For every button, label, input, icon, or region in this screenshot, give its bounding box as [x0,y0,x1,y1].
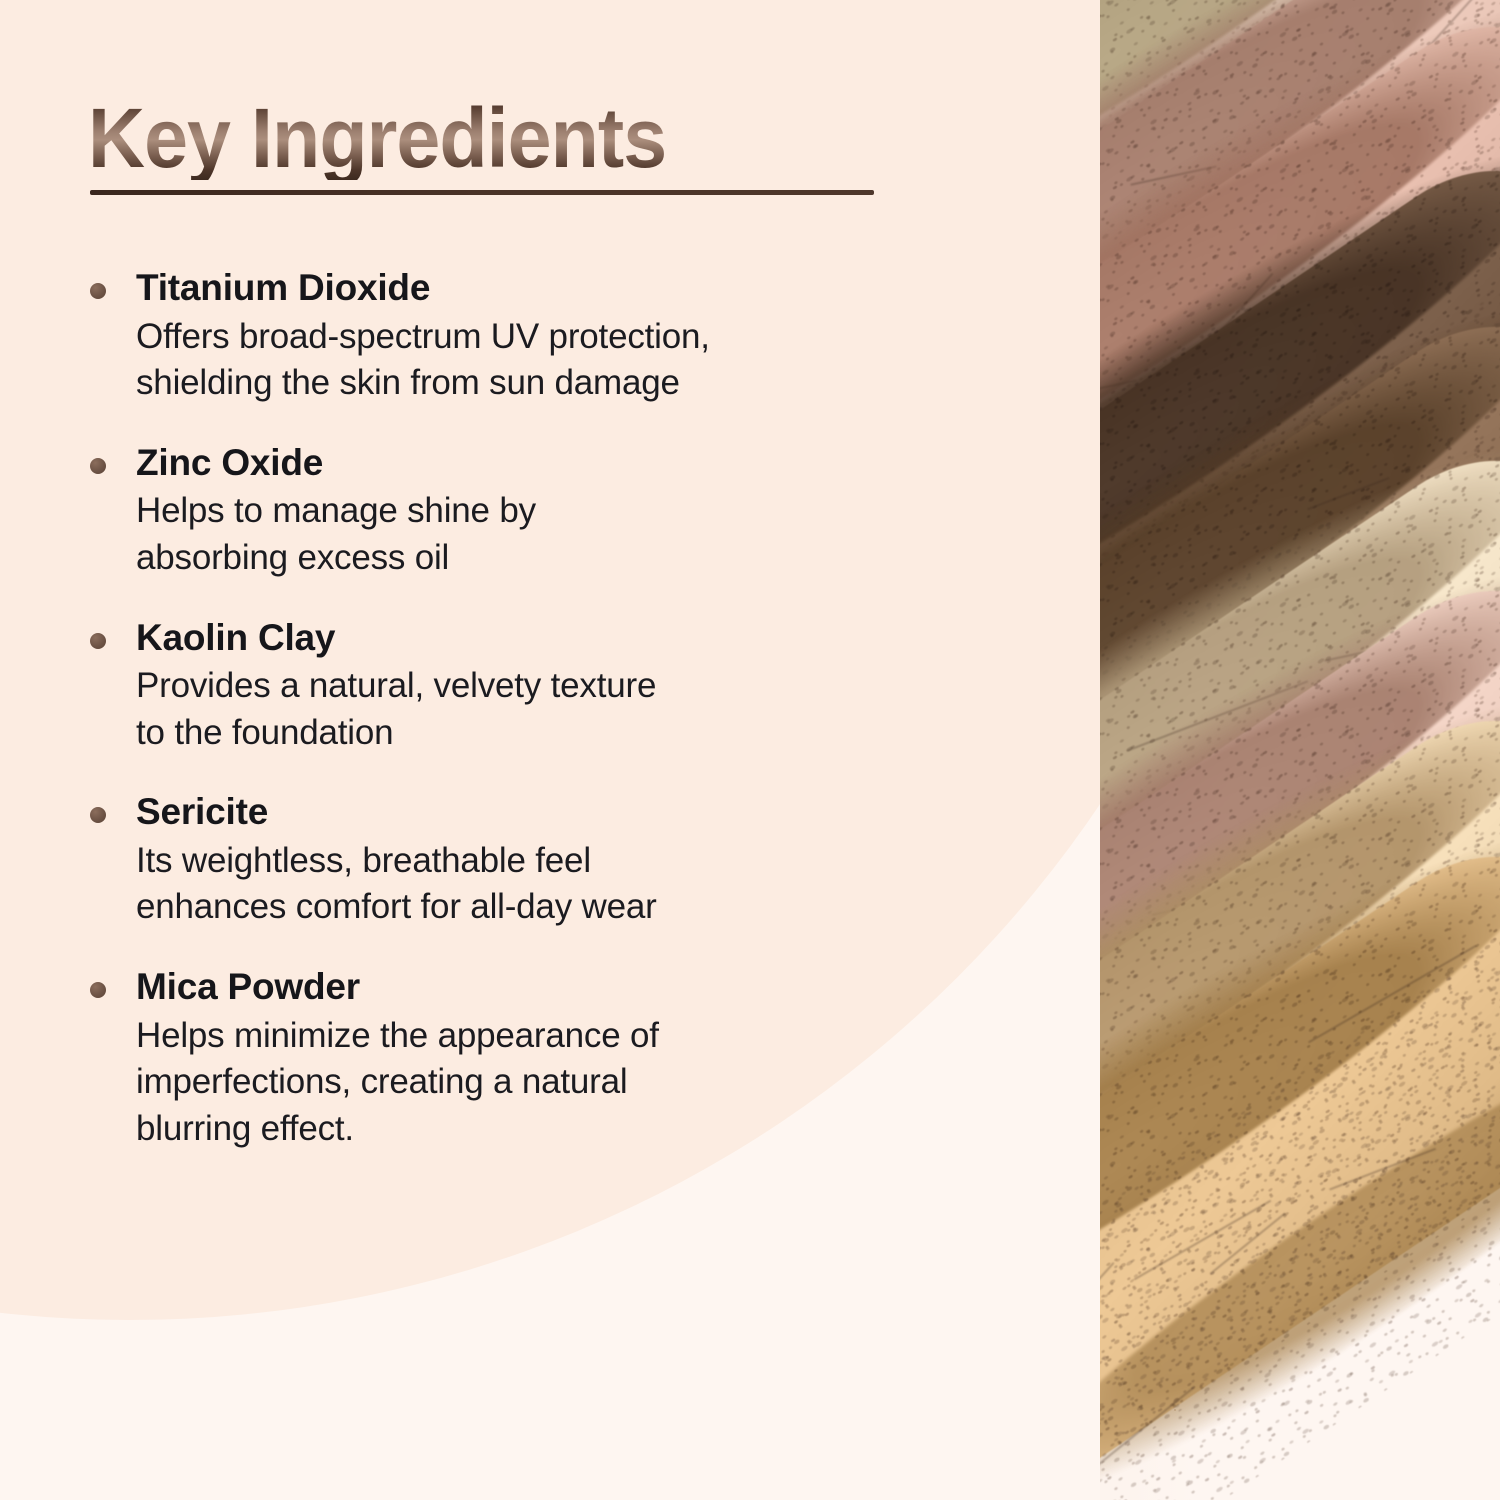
ingredient-description: Helps minimize the appearance of imperfe… [136,1013,988,1153]
ingredient-description: Its weightless, breathable feel enhances… [136,838,988,931]
ingredient-name: Sericite [136,790,988,834]
ingredient-list: Titanium Dioxide Offers broad-spectrum U… [88,266,988,1152]
ingredient-description: Provides a natural, velvety texture to t… [136,663,988,756]
bullet-dot-icon [90,283,106,299]
list-item: Zinc Oxide Helps to manage shine by abso… [88,441,988,582]
content-column: Key Ingredients Titanium Dioxide Offers … [0,0,1060,1500]
list-item: Kaolin Clay Provides a natural, velvety … [88,616,988,757]
infographic-page: Key Ingredients Titanium Dioxide Offers … [0,0,1500,1500]
ingredient-name: Kaolin Clay [136,616,988,660]
ingredient-name: Mica Powder [136,965,988,1009]
bullet-dot-icon [90,458,106,474]
title-underline-rule [90,190,874,195]
bullet-dot-icon [90,807,106,823]
ingredient-name: Titanium Dioxide [136,266,988,310]
page-title: Key Ingredients [88,96,840,180]
list-item: Sericite Its weightless, breathable feel… [88,790,988,931]
list-item: Titanium Dioxide Offers broad-spectrum U… [88,266,988,407]
powder-swatch-image [1100,0,1500,1500]
bullet-dot-icon [90,982,106,998]
page-title-wrap: Key Ingredients [88,96,888,180]
ingredient-description: Offers broad-spectrum UV protection, shi… [136,314,988,407]
bullet-dot-icon [90,633,106,649]
powder-swatch-bands [1100,0,1500,1500]
list-item: Mica Powder Helps minimize the appearanc… [88,965,988,1152]
ingredient-description: Helps to manage shine by absorbing exces… [136,488,988,581]
ingredient-name: Zinc Oxide [136,441,988,485]
